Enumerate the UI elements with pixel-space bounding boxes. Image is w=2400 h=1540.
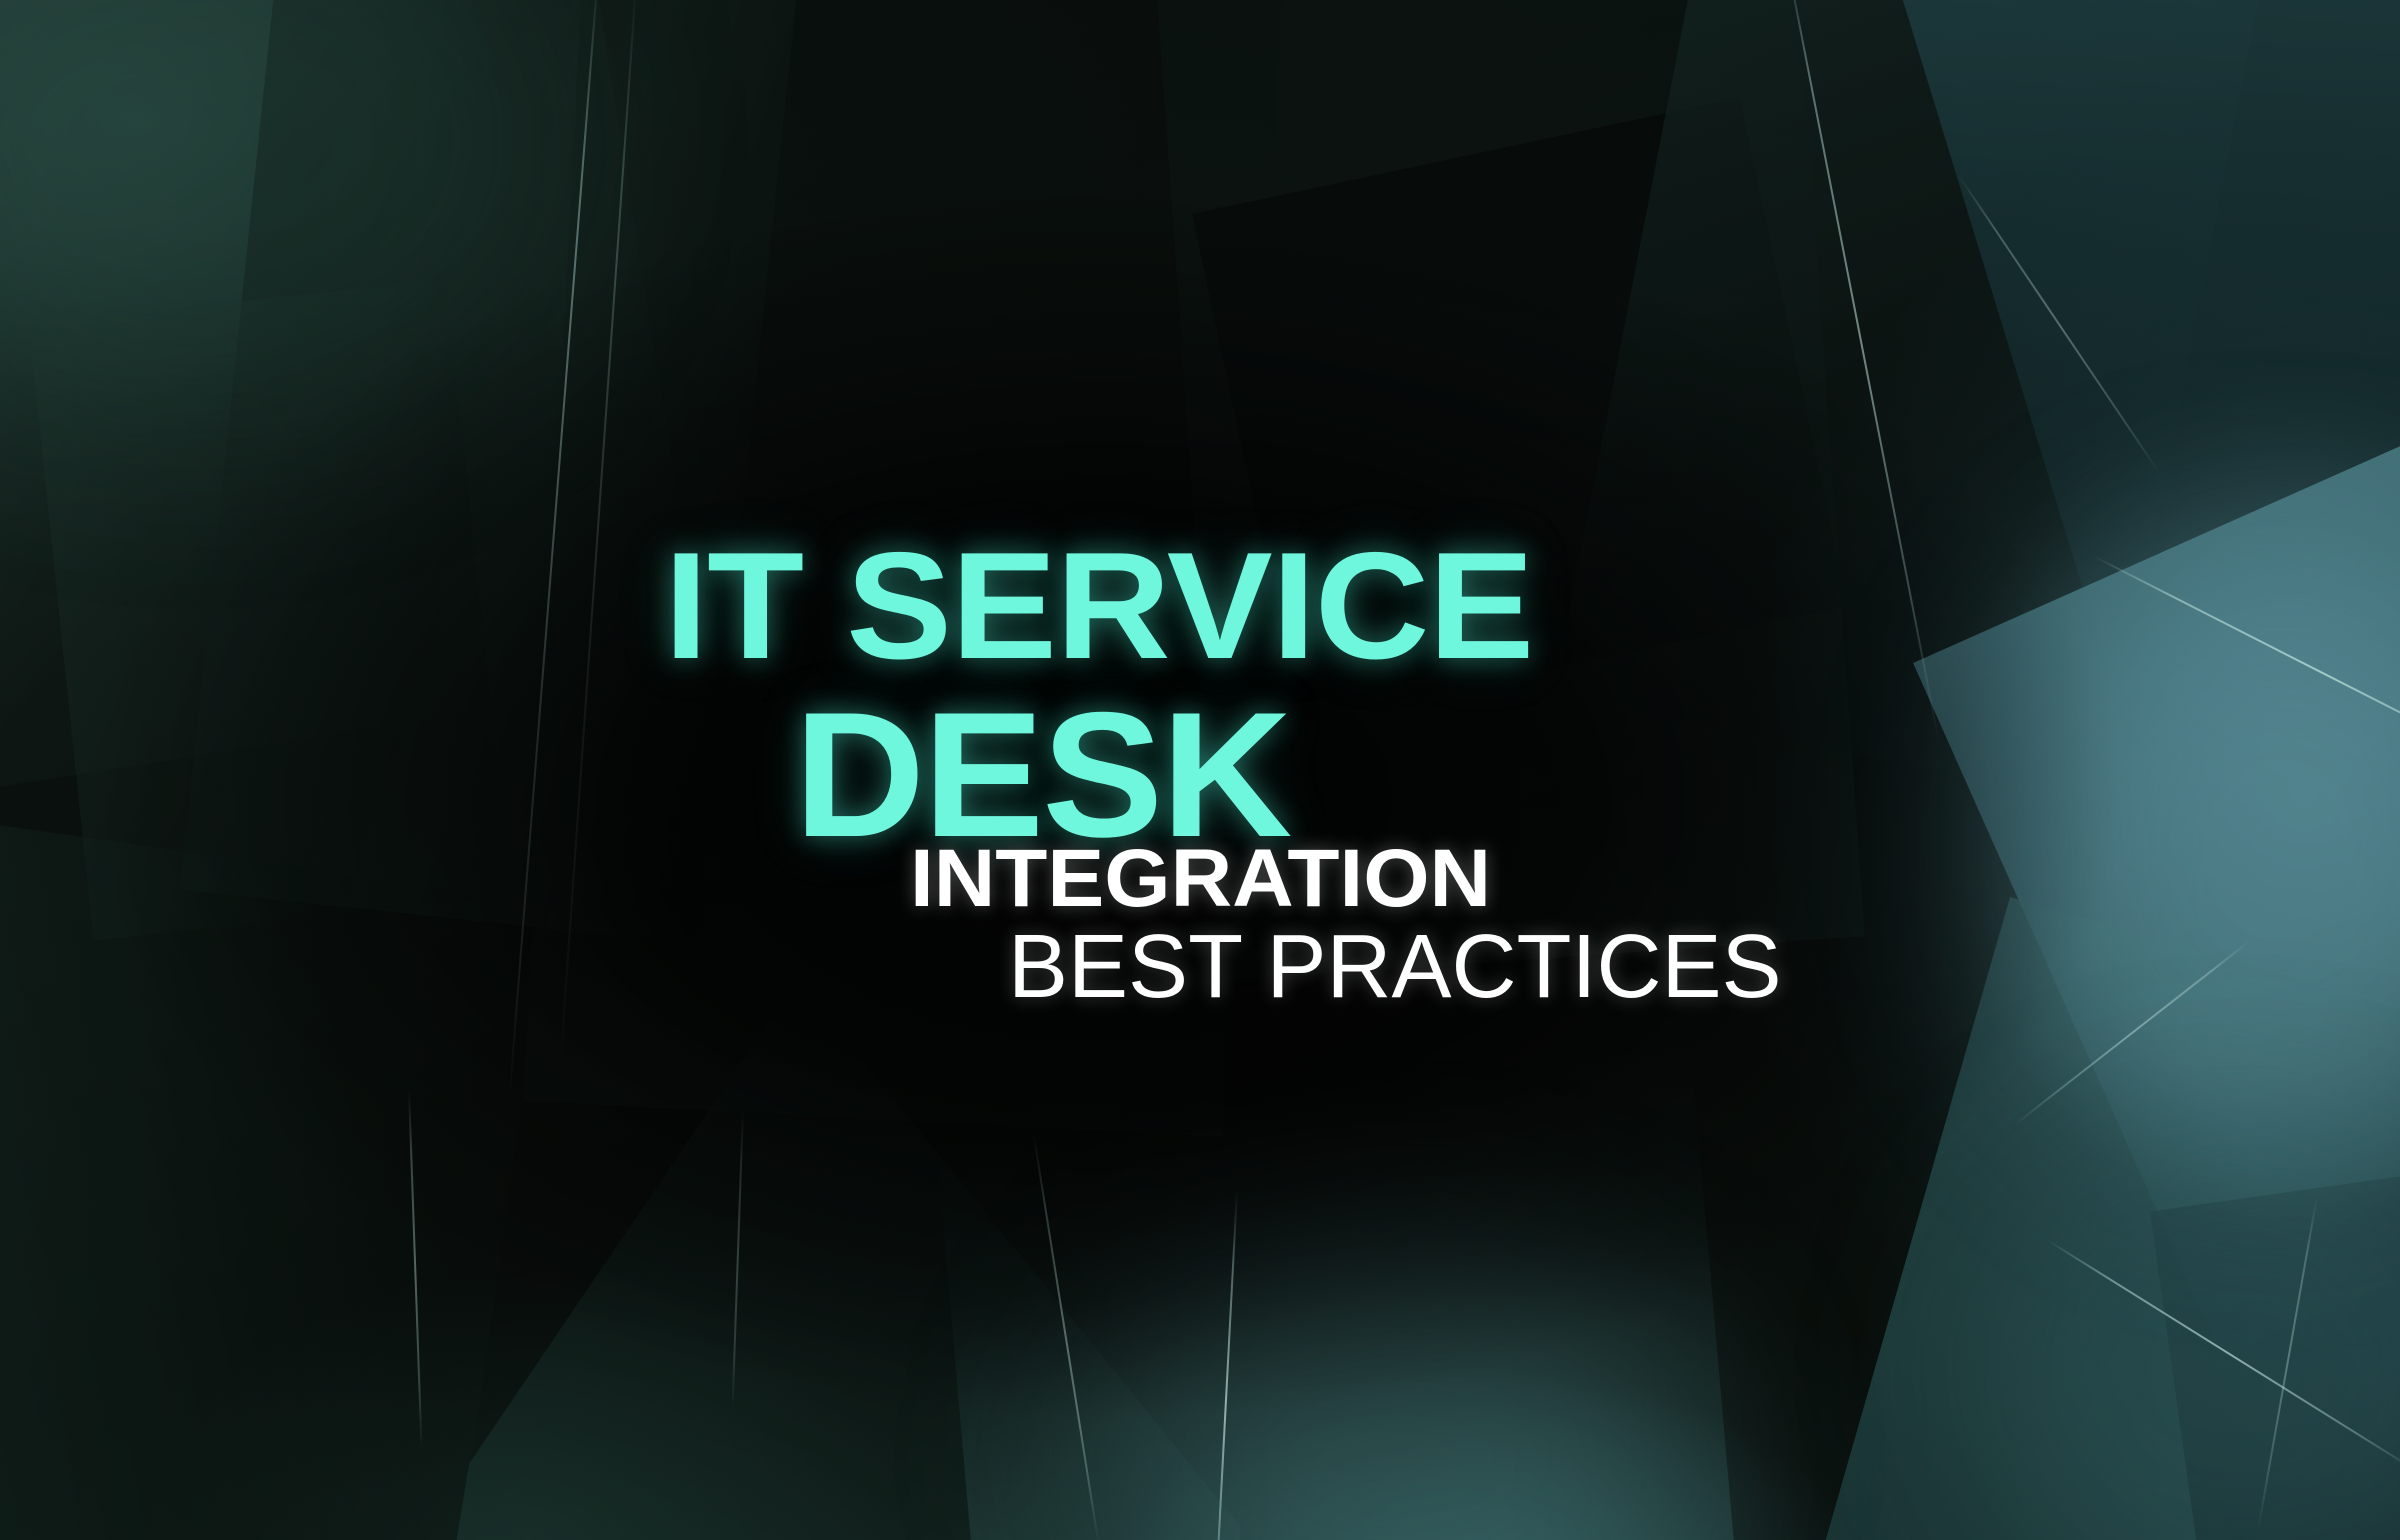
poster-canvas: IT SERVICE DESK INTEGRATION BEST PRACTIC… bbox=[0, 0, 2400, 1540]
background-bottom-glow-wash bbox=[0, 0, 2400, 1540]
background-artwork bbox=[0, 0, 2400, 1540]
